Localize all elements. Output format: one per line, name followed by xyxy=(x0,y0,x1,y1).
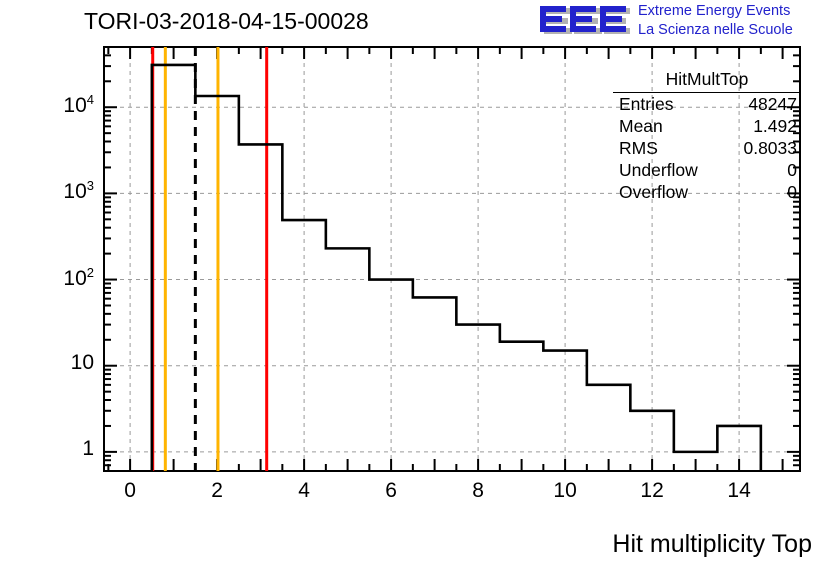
x-axis-title: Hit multiplicity Top xyxy=(612,530,812,559)
stats-row-value: 1.492 xyxy=(753,116,797,136)
stats-row-key: Entries xyxy=(619,94,673,114)
stats-row-key: Mean xyxy=(619,116,663,136)
stats-box: HitMultTop Entries48247Mean1.492RMS0.803… xyxy=(613,68,801,203)
stats-row: Entries48247 xyxy=(613,93,801,115)
y-axis-tick-label: 1 xyxy=(82,437,94,461)
x-axis-tick-label: 6 xyxy=(361,479,421,503)
x-axis-tick-label: 0 xyxy=(100,479,160,503)
x-axis-tick-label: 12 xyxy=(622,479,682,503)
x-axis-tick-label: 14 xyxy=(709,479,769,503)
stats-row-value: 0 xyxy=(787,182,797,202)
y-axis-tick-label: 103 xyxy=(63,178,94,204)
stats-row-value: 0 xyxy=(787,160,797,180)
stats-row: RMS0.8033 xyxy=(613,137,801,159)
stats-row-key: RMS xyxy=(619,138,658,158)
stats-box-title: HitMultTop xyxy=(613,68,801,93)
x-axis-tick-label: 8 xyxy=(448,479,508,503)
y-axis-tick-label: 104 xyxy=(63,92,94,118)
y-axis-tick-label: 102 xyxy=(63,265,94,291)
stats-row-value: 48247 xyxy=(748,94,797,114)
stats-row-key: Overflow xyxy=(619,182,688,202)
root-canvas: TORI-03-2018-04-15-00028 xyxy=(0,0,836,572)
stats-rows: Entries48247Mean1.492RMS0.8033Underflow0… xyxy=(613,93,801,203)
stats-row: Overflow0 xyxy=(613,181,801,203)
stats-row: Underflow0 xyxy=(613,159,801,181)
stats-row-value: 0.8033 xyxy=(743,138,797,158)
y-axis-tick-label: 10 xyxy=(71,351,94,375)
x-axis-tick-label: 2 xyxy=(187,479,247,503)
x-axis-tick-label: 10 xyxy=(535,479,595,503)
x-axis-tick-label: 4 xyxy=(274,479,334,503)
stats-row-key: Underflow xyxy=(619,160,698,180)
vertical-markers xyxy=(153,47,267,471)
stats-row: Mean1.492 xyxy=(613,115,801,137)
